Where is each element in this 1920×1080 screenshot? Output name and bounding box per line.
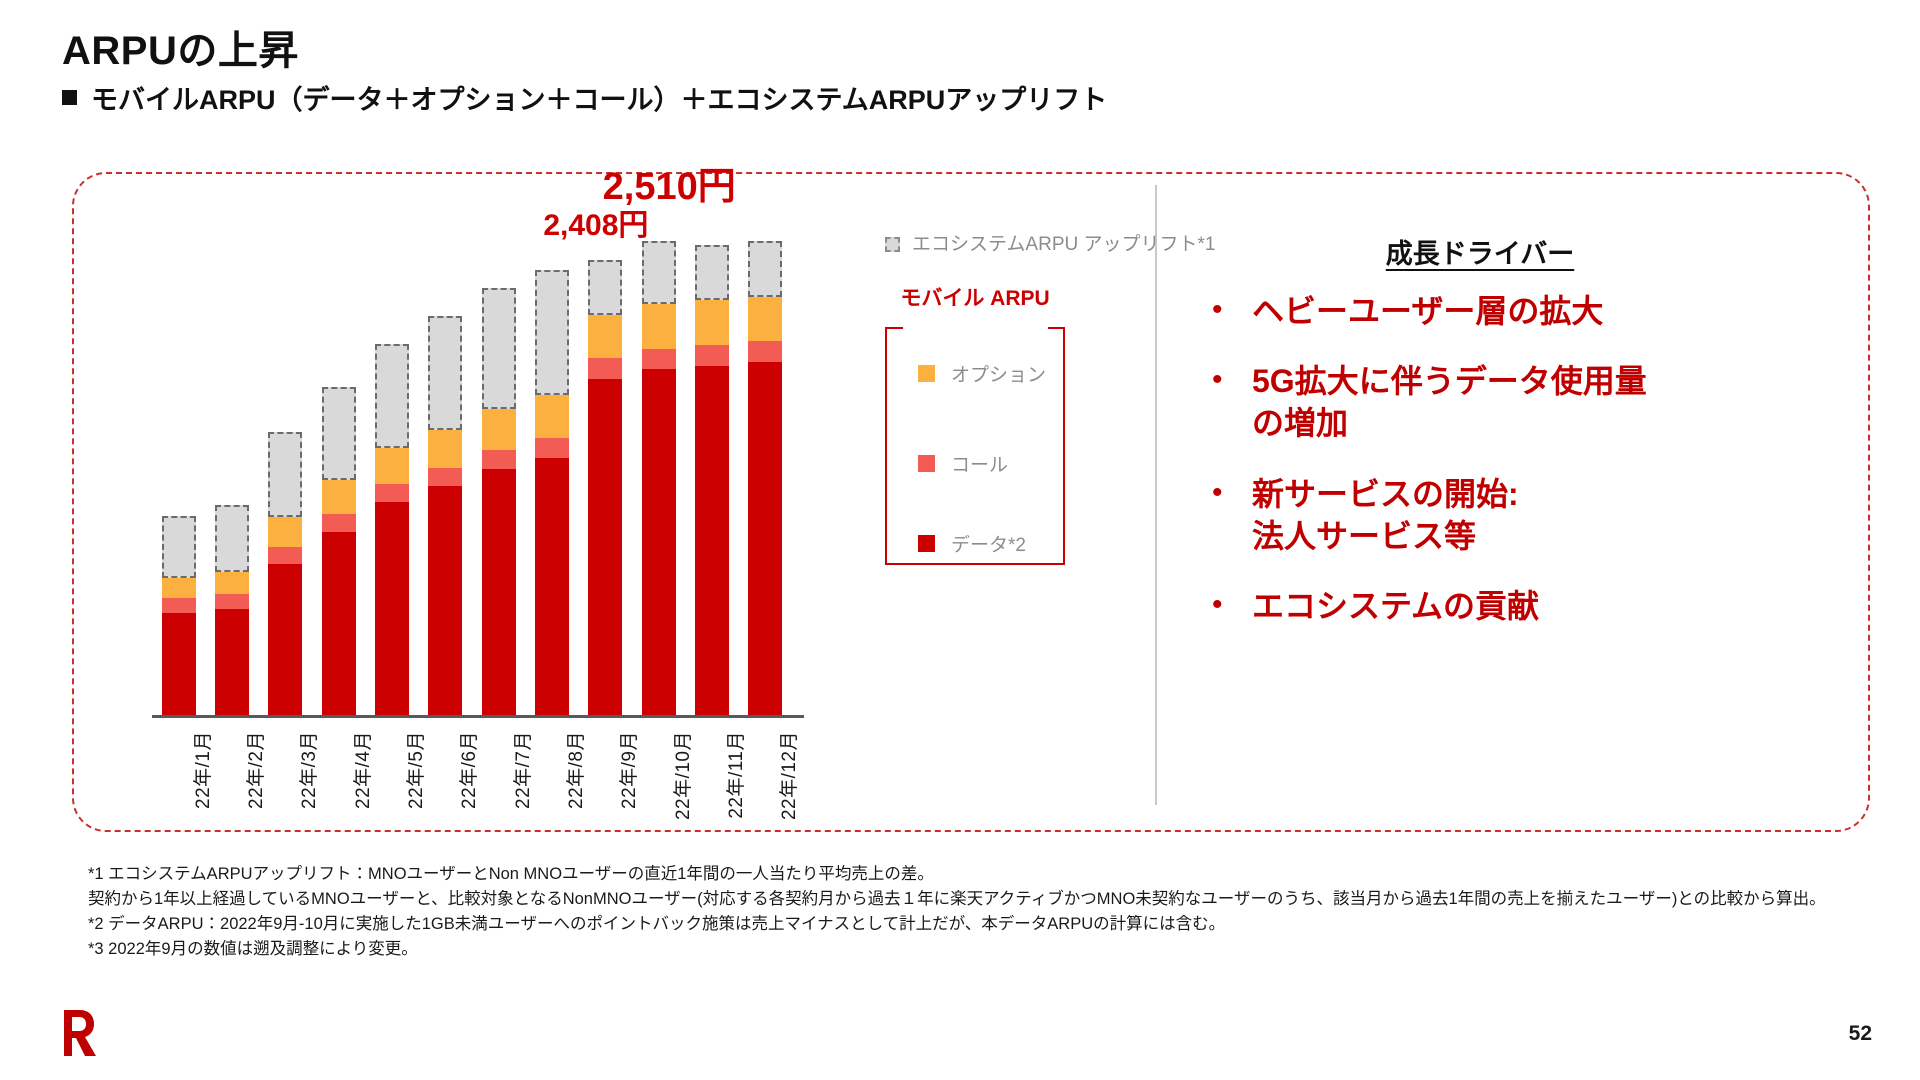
chart-x-label: 22年/3月	[294, 731, 321, 809]
footnotes: *1 エコシステムARPUアップリフト：MNOユーザーとNon MNOユーザーの…	[88, 862, 1878, 962]
growth-driver-text: 新サービスの開始: 法人サービス等	[1252, 473, 1519, 557]
chart-bar-segment	[375, 484, 409, 502]
chart-bar-segment	[642, 304, 676, 348]
chart-bar[interactable]	[695, 245, 729, 715]
chart-bar-segment	[215, 594, 249, 609]
chart-x-label: 22年/12月	[774, 731, 801, 820]
chart-bar-segment	[588, 260, 622, 314]
chart-bar-segment	[695, 245, 729, 301]
chart-bar-segment	[322, 387, 356, 480]
arpu-stacked-bar-chart: エコシステムARPU アップリフト*1 モバイル ARPU 22年/1月22年/…	[90, 175, 1130, 815]
page-title: ARPUの上昇	[62, 18, 299, 76]
chart-bar-segment	[482, 409, 516, 450]
chart-bar-segment	[748, 241, 782, 297]
chart-bar-segment	[642, 241, 676, 304]
rakuten-logo-icon	[58, 1008, 102, 1058]
chart-bar-segment	[162, 598, 196, 613]
chart-bar-segment	[428, 486, 462, 715]
chart-bar-segment	[162, 516, 196, 578]
chart-x-label: 22年/6月	[454, 731, 481, 809]
growth-drivers-list: •ヘビーユーザー層の拡大•5G拡大に伴うデータ使用量 の増加•新サービスの開始:…	[1198, 290, 1818, 655]
chart-bar-segment	[375, 448, 409, 484]
chart-bar[interactable]	[375, 344, 409, 715]
growth-driver-text: エコシステムの貢献	[1252, 585, 1539, 627]
chart-bar-segment	[162, 578, 196, 598]
chart-bar-segment	[748, 362, 782, 715]
growth-driver-text: 5G拡大に伴うデータ使用量 の増加	[1252, 360, 1647, 444]
chart-bar[interactable]	[482, 288, 516, 715]
legend-label: データ*2	[951, 530, 1026, 557]
chart-value-label: 2,510円	[603, 155, 736, 210]
legend-item-0[interactable]: オプション	[918, 360, 1046, 387]
footnote: *2 データARPU：2022年9月-10月に実施した1GB未満ユーザーへのポイ…	[88, 912, 1878, 937]
legend-label: コール	[951, 450, 1008, 477]
chart-bar-segment	[428, 316, 462, 429]
chart-bar-segment	[535, 438, 569, 458]
chart-bar-segment	[428, 468, 462, 487]
chart-bar-segment	[215, 505, 249, 572]
chart-bar-segment	[428, 430, 462, 468]
legend-label: オプション	[951, 360, 1046, 387]
chart-bar-segment	[268, 564, 302, 715]
chart-x-label: 22年/5月	[401, 731, 428, 809]
chart-bar-segment	[482, 288, 516, 409]
legend-item-1[interactable]: コール	[918, 450, 1008, 477]
growth-driver-text: ヘビーユーザー層の拡大	[1252, 290, 1603, 332]
footnote: *3 2022年9月の数値は遡及調整により変更。	[88, 937, 1878, 962]
chart-x-label: 22年/1月	[188, 731, 215, 809]
chart-bar[interactable]	[748, 241, 782, 715]
page-number: 52	[1849, 1022, 1872, 1046]
chart-bar[interactable]	[322, 387, 356, 715]
chart-bar-segment	[535, 270, 569, 395]
chart-bar-segment	[482, 469, 516, 715]
panel-divider	[1155, 185, 1157, 805]
chart-x-label: 22年/4月	[348, 731, 375, 809]
chart-bar[interactable]	[642, 241, 676, 715]
page-subtitle-text: モバイルARPU（データ＋オプション＋コール）＋エコシステムARPUアップリフト	[91, 78, 1107, 117]
chart-bar-segment	[215, 572, 249, 594]
bullet-icon: •	[1198, 360, 1252, 400]
legend-swatch-ecosystem-icon	[885, 237, 900, 252]
chart-bar[interactable]	[428, 316, 462, 715]
chart-bar-segment	[588, 315, 622, 358]
chart-bar-segment	[695, 366, 729, 715]
legend-label-ecosystem: エコシステムARPU アップリフト*1	[912, 233, 1215, 257]
chart-x-label: 22年/11月	[721, 731, 748, 819]
chart-bar-segment	[695, 300, 729, 344]
chart-plot-area	[152, 205, 792, 715]
chart-bar-segment	[535, 458, 569, 715]
chart-bar-segment	[588, 379, 622, 715]
chart-bar[interactable]	[162, 516, 196, 715]
legend-swatch-icon	[918, 365, 935, 382]
chart-bar-segment	[268, 432, 302, 517]
growth-driver-item: •新サービスの開始: 法人サービス等	[1198, 473, 1818, 557]
chart-x-label: 22年/2月	[241, 731, 268, 809]
chart-bar-segment	[322, 532, 356, 715]
chart-bar-segment	[535, 395, 569, 438]
chart-x-label: 22年/10月	[668, 731, 695, 820]
chart-bar-segment	[642, 349, 676, 370]
chart-bar[interactable]	[535, 270, 569, 715]
bullet-square-icon	[62, 90, 77, 105]
legend-swatch-icon	[918, 535, 935, 552]
chart-bar[interactable]	[588, 260, 622, 715]
legend-group-title-mobile-arpu: モバイル ARPU	[900, 287, 1050, 312]
chart-bar-segment	[482, 450, 516, 470]
chart-bar-segment	[748, 341, 782, 362]
bullet-icon: •	[1198, 290, 1252, 330]
growth-driver-item: •ヘビーユーザー層の拡大	[1198, 290, 1818, 332]
growth-drivers-title: 成長ドライバー	[1200, 232, 1760, 271]
chart-bar-segment	[322, 514, 356, 532]
chart-bar-segment	[322, 480, 356, 514]
bullet-icon: •	[1198, 473, 1252, 513]
bullet-icon: •	[1198, 585, 1252, 625]
chart-bar-segment	[642, 369, 676, 715]
chart-bar-segment	[588, 358, 622, 379]
chart-x-label: 22年/7月	[508, 731, 535, 809]
chart-bar-segment	[268, 517, 302, 547]
footnote: *1 エコシステムARPUアップリフト：MNOユーザーとNon MNOユーザーの…	[88, 862, 1878, 912]
chart-bar-segment	[375, 344, 409, 448]
chart-bar-segment	[162, 613, 196, 715]
legend-group-title-mask	[903, 321, 1048, 335]
growth-driver-item: •エコシステムの貢献	[1198, 585, 1818, 627]
chart-bar[interactable]	[215, 505, 249, 715]
chart-bar-segment	[215, 609, 249, 715]
chart-bar-segment	[268, 547, 302, 564]
legend-swatch-icon	[918, 455, 935, 472]
chart-bar-segment	[375, 502, 409, 715]
page-subtitle: モバイルARPU（データ＋オプション＋コール）＋エコシステムARPUアップリフト	[62, 78, 1107, 117]
legend-item-2[interactable]: データ*2	[918, 530, 1026, 557]
chart-x-label: 22年/9月	[614, 731, 641, 809]
chart-bar-segment	[748, 297, 782, 341]
legend-item-ecosystem-uplift[interactable]: エコシステムARPU アップリフト*1	[885, 233, 1215, 257]
chart-bar-segment	[695, 345, 729, 366]
chart-x-label: 22年/8月	[561, 731, 588, 809]
chart-x-axis	[152, 715, 804, 718]
chart-bar[interactable]	[268, 432, 302, 715]
growth-driver-item: •5G拡大に伴うデータ使用量 の増加	[1198, 360, 1818, 444]
